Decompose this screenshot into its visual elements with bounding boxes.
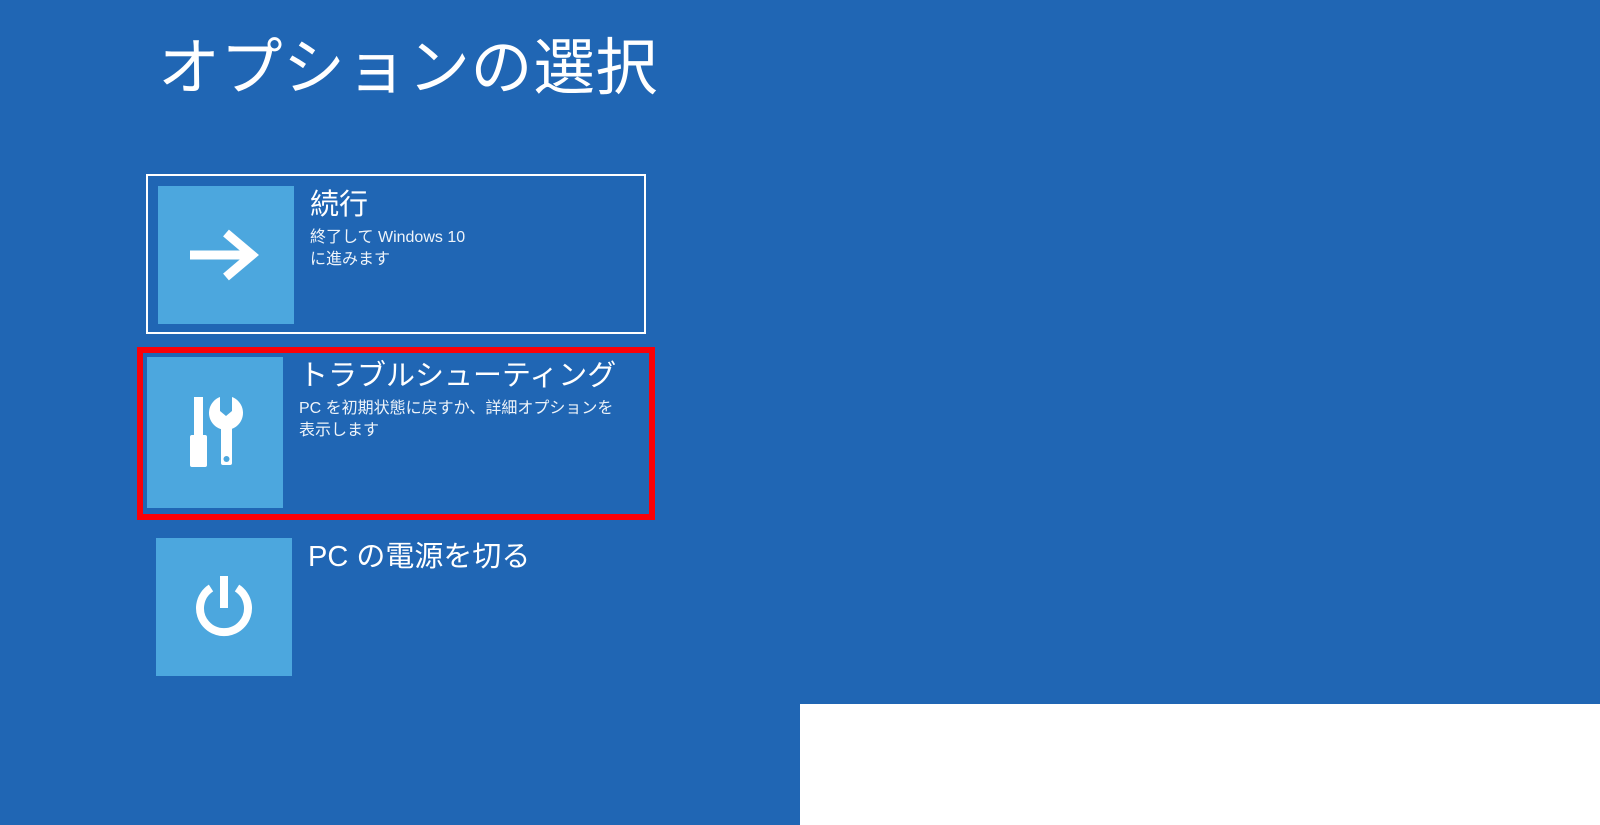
option-subtitle-troubleshoot: PC を初期状態に戻すか、詳細オプションを 表示します [299, 398, 645, 441]
option-tile-continue[interactable]: 続行 終了して Windows 10 に進みます [146, 174, 646, 334]
power-icon [156, 538, 292, 676]
arrow-right-icon [158, 186, 294, 324]
option-title-troubleshoot: トラブルシューティング [299, 359, 645, 394]
option-title-continue: 続行 [310, 188, 634, 223]
troubleshoot-panel: トラブルシューティング この PC を初期状態に 戻す 個人用ファイルを保持する… [800, 0, 1600, 825]
bottom-white-area [800, 704, 1600, 825]
option-tile-shutdown[interactable]: PC の電源を切る [146, 528, 646, 673]
option-text-shutdown: PC の電源を切る [292, 538, 636, 575]
option-text-troubleshoot: トラブルシューティング PC を初期状態に戻すか、詳細オプションを 表示します [283, 357, 645, 442]
tools-icon [147, 357, 283, 508]
option-title-shutdown: PC の電源を切る [308, 540, 636, 575]
option-tile-troubleshoot[interactable]: トラブルシューティング PC を初期状態に戻すか、詳細オプションを 表示します [137, 347, 655, 520]
option-text-continue: 続行 終了して Windows 10 に進みます [294, 186, 634, 271]
choose-an-option-panel: オプションの選択 続行 終了して Windows 10 に進みます [0, 0, 800, 825]
page-title-choose-option: オプションの選択 [158, 38, 658, 100]
option-subtitle-continue: 終了して Windows 10 に進みます [310, 227, 634, 270]
